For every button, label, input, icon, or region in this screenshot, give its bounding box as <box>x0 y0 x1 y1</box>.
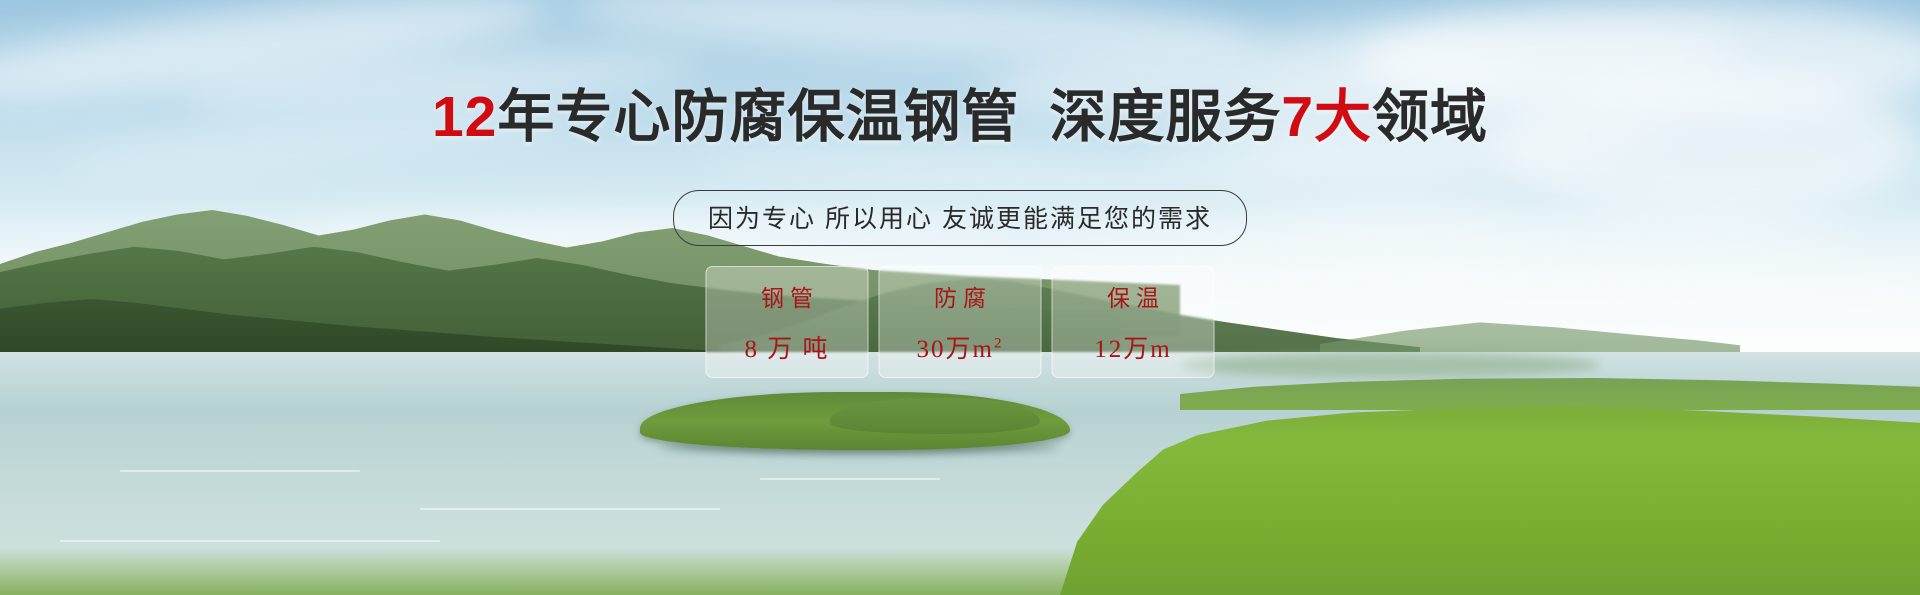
headline-years-number: 12 <box>432 85 497 149</box>
stat-cards: 钢管 8 万 吨 防腐 30万m2 保温 12万m <box>706 266 1215 378</box>
stat-card-label: 保温 <box>1101 279 1165 313</box>
water-ripple <box>120 470 360 472</box>
water-ripple <box>420 508 720 510</box>
stat-card-label: 防腐 <box>928 279 992 313</box>
stat-card-label: 钢管 <box>755 279 819 313</box>
water-ripple <box>760 478 940 480</box>
stat-card-anticorrosion[interactable]: 防腐 30万m2 <box>879 266 1042 378</box>
shoal <box>1180 352 1600 378</box>
stat-card-value-text: 8 万 吨 <box>744 336 829 363</box>
stat-card-steel-pipe[interactable]: 钢管 8 万 吨 <box>706 266 869 378</box>
stat-card-value-text: 12万m <box>1094 336 1171 363</box>
banner-subtitle-pill: 因为专心 所以用心 友诚更能满足您的需求 <box>673 190 1247 246</box>
bottom-grass-fade <box>0 548 1920 595</box>
headline-main-text: 年专心防腐保温钢管 <box>497 85 1019 149</box>
promo-banner: 12年专心防腐保温钢管深度服务7大领域 因为专心 所以用心 友诚更能满足您的需求… <box>0 0 1920 595</box>
headline-fields-number: 7大 <box>1281 85 1372 149</box>
stat-card-value: 8 万 吨 <box>744 329 829 365</box>
stat-card-insulation[interactable]: 保温 12万m <box>1052 266 1215 378</box>
stat-card-value: 12万m <box>1094 329 1171 365</box>
stat-card-value-superscript: 2 <box>994 336 1004 352</box>
headline-service-text: 深度服务 <box>1049 85 1281 149</box>
stat-card-value-text: 30万m <box>917 336 994 363</box>
headline-fields-text: 领域 <box>1372 85 1488 149</box>
grass-island-secondary <box>830 398 1040 434</box>
stat-card-value: 30万m2 <box>917 329 1004 365</box>
banner-headline: 12年专心防腐保温钢管深度服务7大领域 <box>0 88 1920 146</box>
water-ripple <box>60 540 440 542</box>
